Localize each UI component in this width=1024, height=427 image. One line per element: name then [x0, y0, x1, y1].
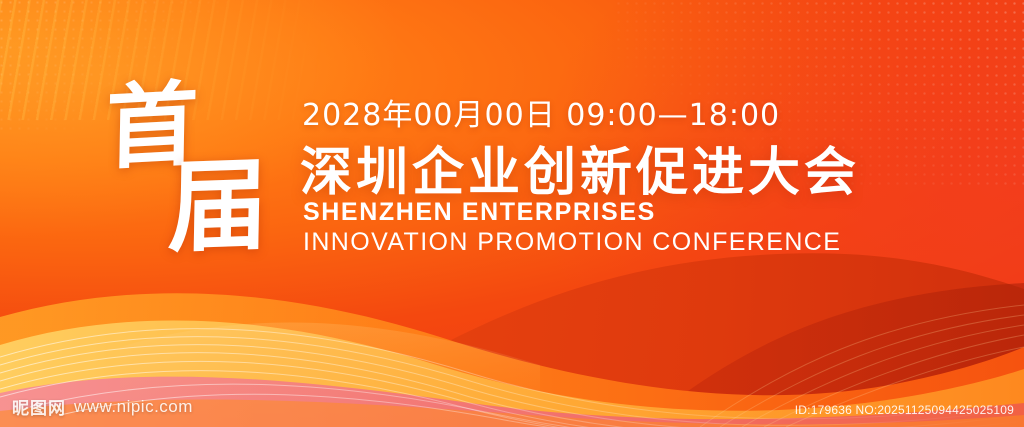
watermark-brand-cn: 昵图网	[12, 394, 66, 419]
watermark: 昵图网 www.nipic.com	[12, 394, 193, 419]
subtitle-english-line2: INNOVATION PROMOTION CONFERENCE	[303, 228, 841, 257]
subtitle-english-line1: SHENZHEN ENTERPRISES	[303, 198, 656, 227]
calligraphy-block: 首 届	[96, 78, 286, 268]
asset-id-code: ID:179636 NO:20251125094425025109	[795, 403, 1014, 417]
poster-image: 首 届 2028年00月00日 09:00—18:00 深圳企业创新促进大会 S…	[0, 0, 1024, 427]
page-title: 深圳企业创新促进大会	[300, 130, 860, 205]
calligraphy-char-2: 届	[167, 154, 269, 257]
watermark-url: www.nipic.com	[74, 397, 193, 417]
event-date-time: 2028年00月00日 09:00—18:00	[302, 90, 780, 134]
